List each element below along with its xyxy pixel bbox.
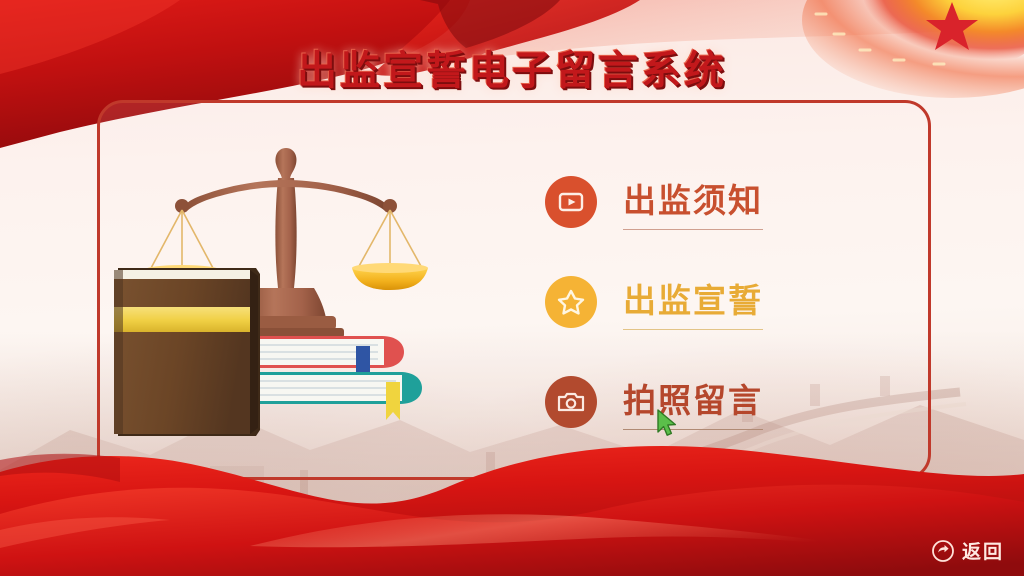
camera-icon (545, 376, 597, 428)
menu-item-label: 拍照留言 (623, 374, 763, 430)
back-button-label: 返回 (962, 537, 1004, 564)
page-title-container: 出监宣誓电子留言系统 (0, 38, 1024, 96)
law-book-graphic (114, 268, 260, 436)
back-arrow-icon (931, 539, 955, 563)
page-title: 出监宣誓电子留言系统 (297, 38, 727, 96)
menu-item-label: 出监须知 (623, 174, 763, 230)
bottom-silk-ribbon (0, 426, 1024, 576)
video-icon (545, 176, 597, 228)
app-screen: 出监宣誓电子留言系统 (0, 0, 1024, 576)
back-button[interactable]: 返回 (931, 537, 1004, 564)
menu-item-label: 出监宣誓 (623, 274, 763, 330)
justice-scale-illustration (108, 140, 468, 470)
menu-item-chujian-xuzhi[interactable]: 出监须知 (545, 168, 885, 236)
star-icon (545, 276, 597, 328)
menu-item-chujian-xuanshi[interactable]: 出监宣誓 (545, 268, 885, 336)
main-menu: 出监须知 出监宣誓 拍照留言 (545, 168, 885, 468)
